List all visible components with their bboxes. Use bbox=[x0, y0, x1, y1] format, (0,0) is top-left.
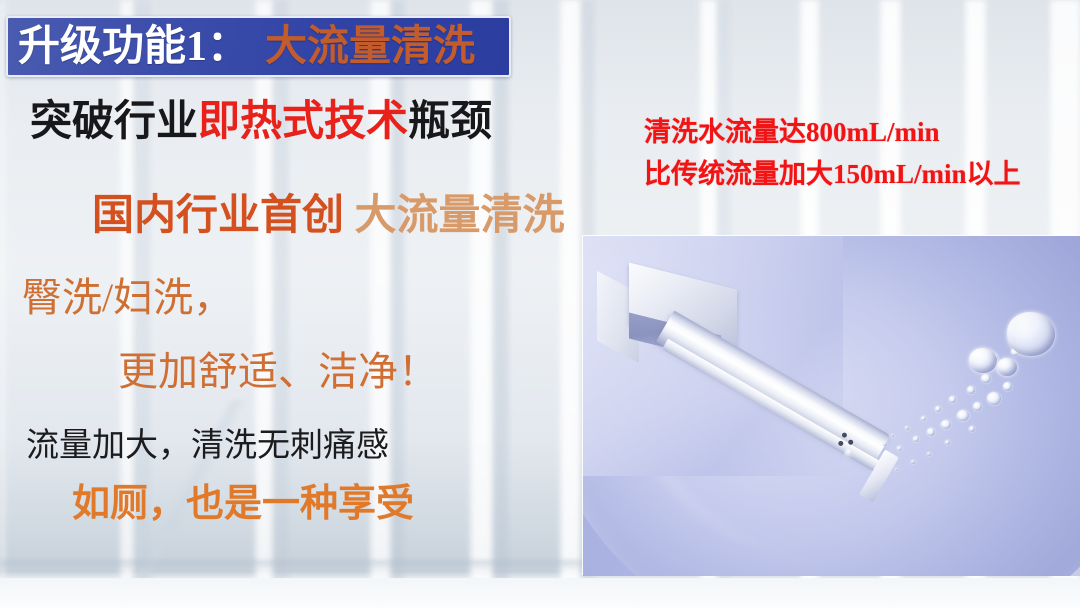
first-in-industry-subject: 大流量清洗 bbox=[344, 193, 565, 239]
headline-part2: 即热式技术 bbox=[198, 99, 408, 145]
photo-vignette bbox=[583, 236, 1080, 576]
spec-line-flow-rate: 清洗水流量达800mL/min bbox=[644, 112, 1080, 154]
headline-part3: 瓶颈 bbox=[408, 99, 492, 145]
spec-callout: 清洗水流量达800mL/min 比传统流量加大150mL/min以上 bbox=[644, 112, 1080, 196]
title-prefix: 升级功能1： bbox=[18, 26, 249, 68]
product-photo bbox=[583, 236, 1080, 576]
benefit-line-2: 更加舒适、洁净！ bbox=[118, 350, 438, 393]
headline-part1: 突破行业 bbox=[30, 99, 198, 145]
benefit-line-4: 如厕，也是一种享受 bbox=[72, 484, 414, 525]
title-highlight: 大流量清洗 bbox=[265, 26, 475, 68]
first-in-industry-line: 国内行业首创 大流量清洗 bbox=[92, 194, 565, 239]
first-in-industry-emphasis: 国内行业首创 bbox=[92, 193, 344, 239]
spec-line-comparison: 比传统流量加大150mL/min以上 bbox=[644, 154, 1080, 196]
title-banner: 升级功能1： 大流量清洗 bbox=[6, 16, 511, 77]
headline: 突破行业即热式技术瓶颈 bbox=[30, 100, 492, 145]
benefit-line-3: 流量加大，清洗无刺痛感 bbox=[26, 427, 389, 463]
benefit-line-1: 臀洗/妇洗， bbox=[22, 276, 233, 319]
slide-canvas: 升级功能1： 大流量清洗 突破行业即热式技术瓶颈 国内行业首创 大流量清洗 臀洗… bbox=[0, 0, 1080, 608]
background-floor-strip bbox=[0, 578, 1080, 608]
